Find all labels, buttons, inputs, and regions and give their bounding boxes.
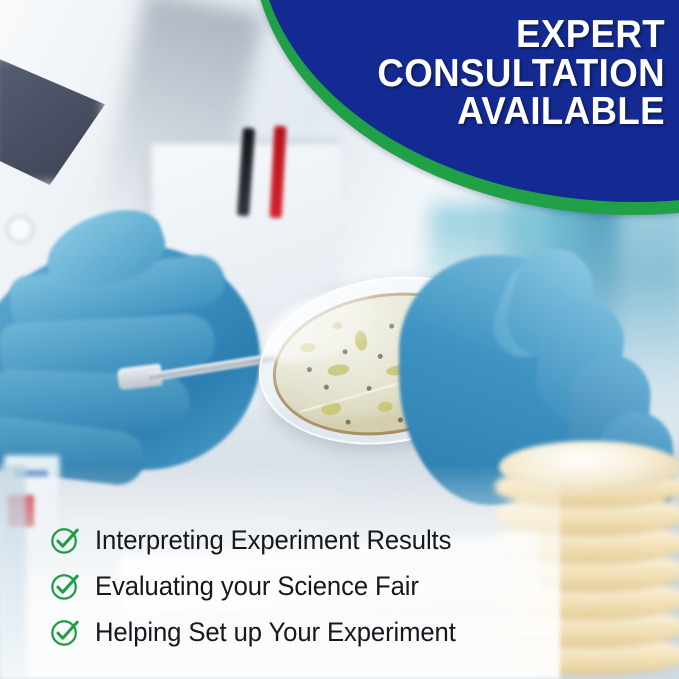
dish-glass-highlight xyxy=(253,275,387,377)
promo-banner-image: EXPERT CONSULTATION AVAILABLE Interpreti… xyxy=(0,0,679,679)
headline-line-1: EXPERT xyxy=(261,16,665,55)
banner-headline: EXPERT CONSULTATION AVAILABLE xyxy=(261,16,665,132)
left-edge-bokeh xyxy=(0,464,26,679)
check-circle-icon xyxy=(50,525,80,555)
list-item: Interpreting Experiment Results xyxy=(50,517,570,563)
headline-line-2: CONSULTATION xyxy=(261,55,665,94)
list-item-label: Interpreting Experiment Results xyxy=(95,525,451,556)
check-circle-icon xyxy=(50,571,80,601)
list-item: Evaluating your Science Fair xyxy=(50,563,570,609)
check-circle-icon xyxy=(50,617,80,647)
list-item: Helping Set up Your Experiment xyxy=(50,609,570,655)
list-item-label: Helping Set up Your Experiment xyxy=(95,617,456,648)
lab-coat-button xyxy=(6,215,34,243)
benefits-list: Interpreting Experiment Results Evaluati… xyxy=(50,517,570,655)
list-item-label: Evaluating your Science Fair xyxy=(95,571,419,602)
headline-line-3: AVAILABLE xyxy=(261,93,665,132)
